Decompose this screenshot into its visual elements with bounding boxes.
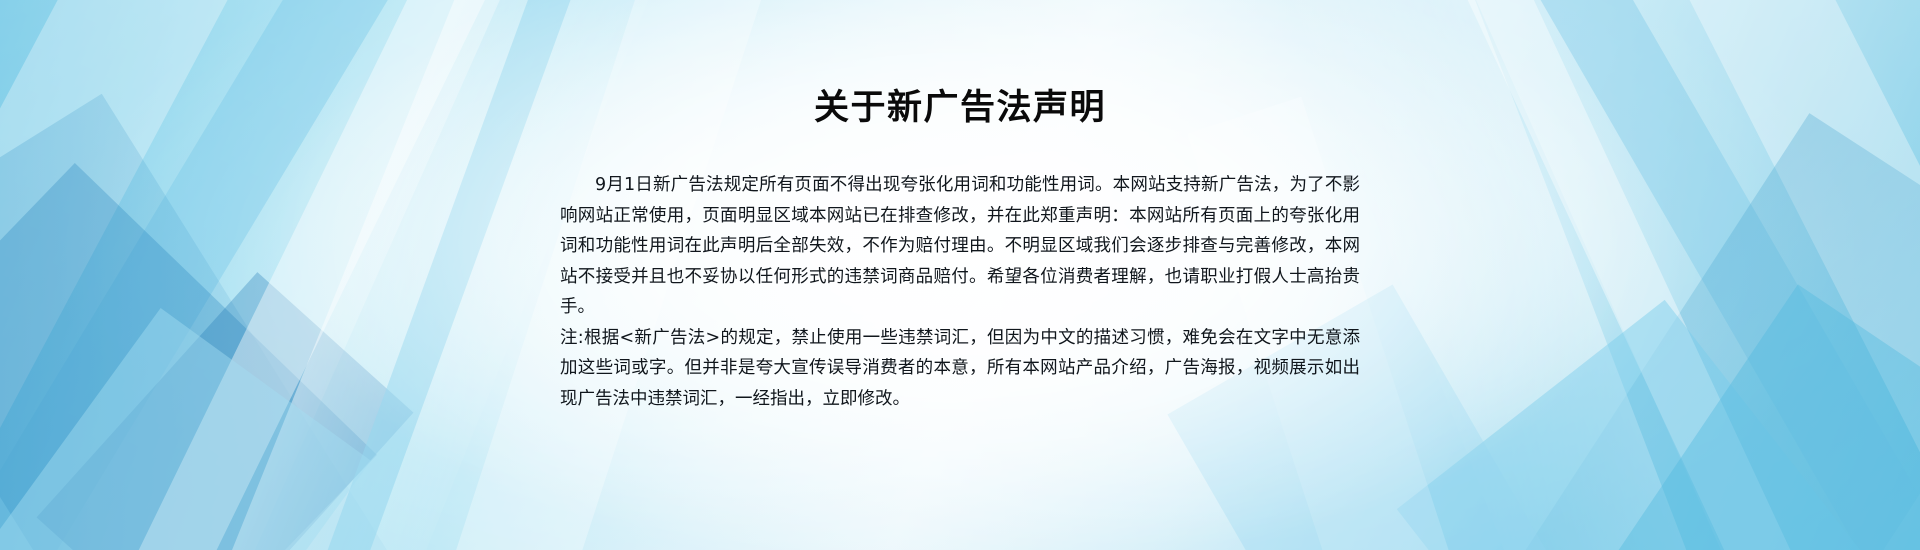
page-title: 关于新广告法声明 xyxy=(560,86,1360,130)
statement-paragraph-note: 注:根据<新广告法>的规定，禁止使用一些违禁词汇，但因为中文的描述习惯，难免会在… xyxy=(560,323,1360,415)
statement-content: 关于新广告法声明 9月1日新广告法规定所有页面不得出现夸张化用词和功能性用词。本… xyxy=(560,0,1360,550)
statement-paragraph-main: 9月1日新广告法规定所有页面不得出现夸张化用词和功能性用词。本网站支持新广告法，… xyxy=(560,170,1360,323)
statement-body: 9月1日新广告法规定所有页面不得出现夸张化用词和功能性用词。本网站支持新广告法，… xyxy=(560,170,1360,414)
advertising-law-statement-banner: 关于新广告法声明 9月1日新广告法规定所有页面不得出现夸张化用词和功能性用词。本… xyxy=(0,0,1920,550)
